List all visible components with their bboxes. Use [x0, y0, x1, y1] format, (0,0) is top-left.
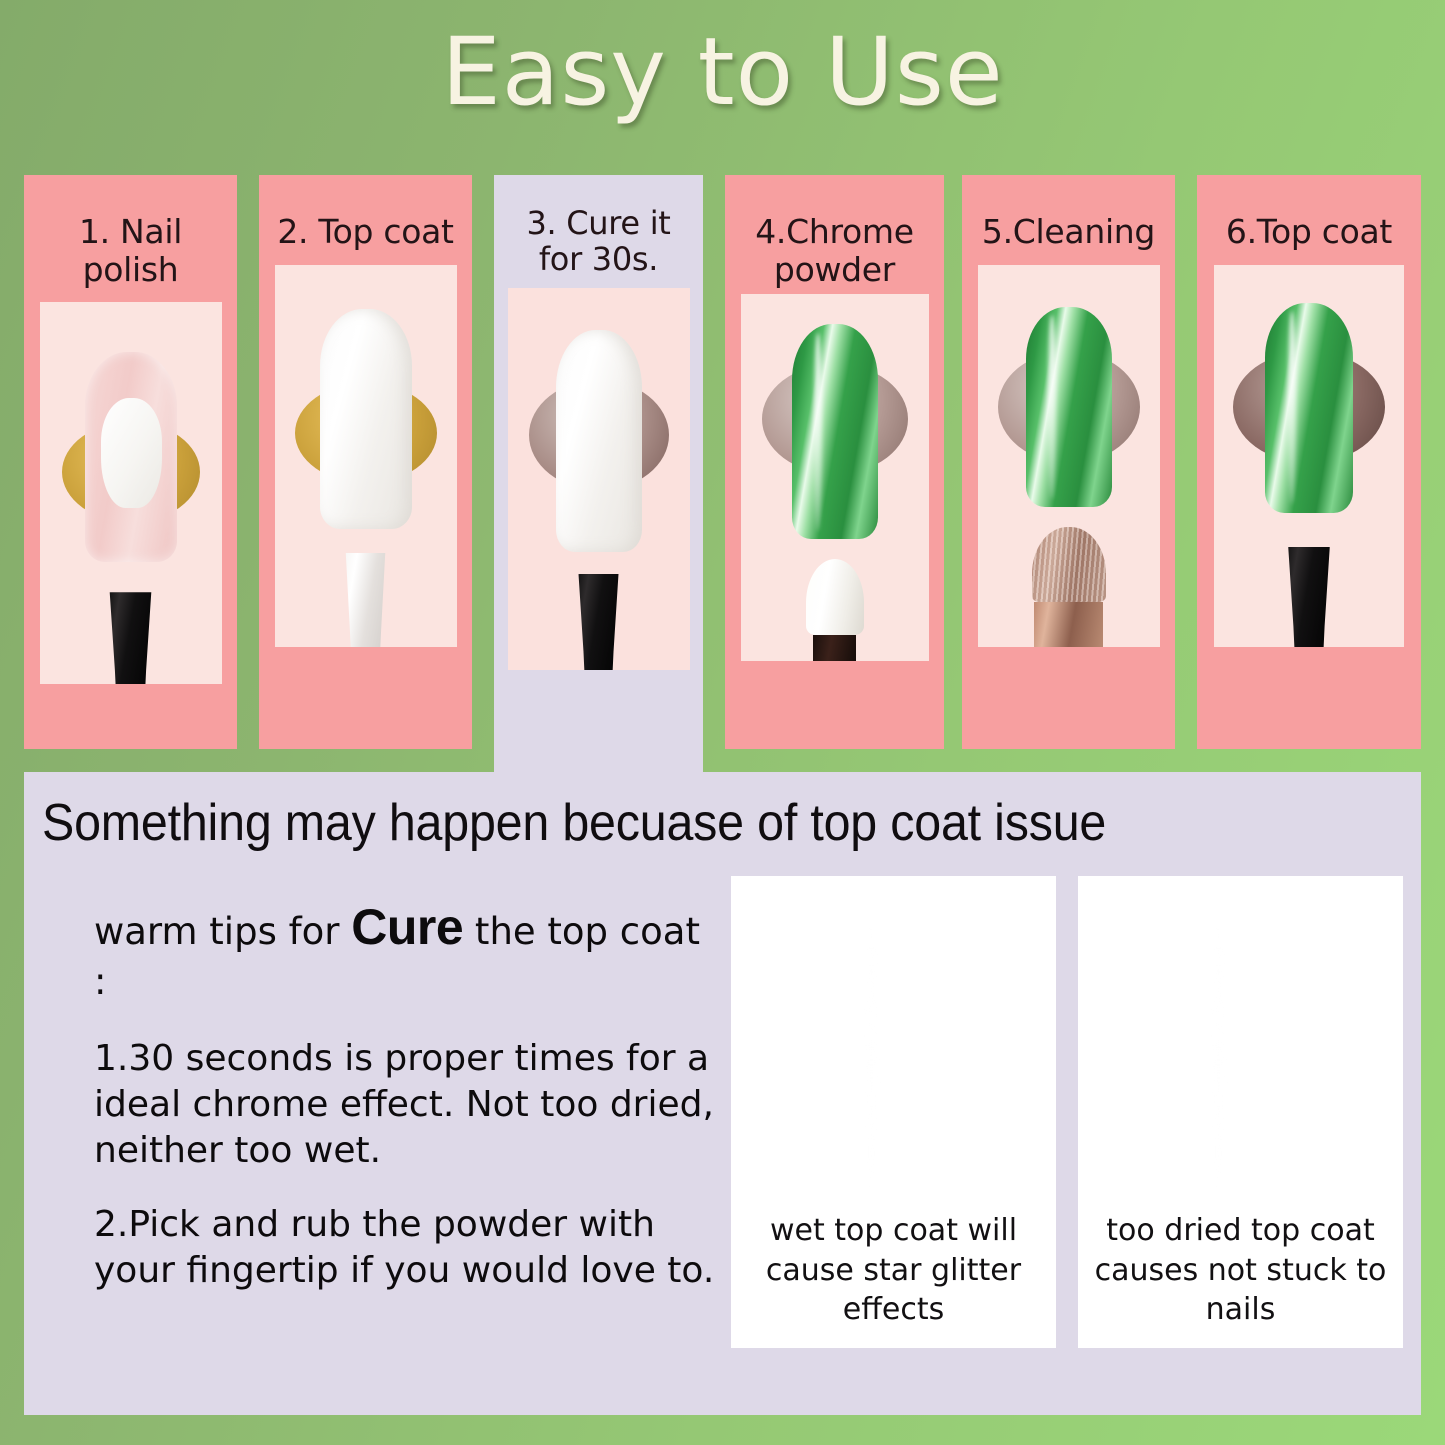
- tips-lead: warm tips for Cure the top coat :: [94, 896, 724, 1006]
- step-label-3-line1: 3. Cure it: [526, 204, 670, 242]
- nail-tip-5: [1026, 307, 1112, 507]
- tip-item-1: 1.30 seconds is proper times for a ideal…: [94, 1036, 724, 1174]
- bottom-headline: Something may happen becuase of top coat…: [42, 796, 1307, 851]
- black-brush-icon: [1283, 547, 1335, 647]
- step-label-6: 6.Top coat: [1197, 175, 1421, 251]
- step-photo-6: [1214, 265, 1404, 647]
- step-card-1: 1. Nail polish: [24, 175, 237, 749]
- step-card-4: 4.Chrome powder: [725, 175, 944, 749]
- black-brush-icon: [574, 574, 624, 670]
- step-photo-4: [741, 294, 929, 661]
- comparison-card-dried: too dried top coat causes not stuck to n…: [1078, 876, 1403, 1348]
- nail-tip-6: [1265, 303, 1353, 513]
- makeup-brush-icon: [1032, 527, 1106, 647]
- nail-tip-2: [320, 309, 412, 529]
- nail-tip-4: [792, 324, 878, 539]
- sponge-handle: [813, 635, 856, 662]
- step-card-3: 3. Cure it for 30s.: [494, 175, 703, 779]
- white-polish-blob: [101, 398, 162, 507]
- comparison-caption-wet: wet top coat will cause star glitter eff…: [731, 1211, 1056, 1330]
- tip-item-2: 2.Pick and rub the powder with your fing…: [94, 1202, 724, 1294]
- step-label-3-line2: for 30s.: [539, 240, 658, 278]
- brush-ferrule: [1034, 602, 1104, 646]
- comparison-nail-wrap-wet: [844, 908, 944, 1208]
- comparison-nail-wet: [844, 908, 944, 1208]
- step-photo-2: [275, 265, 457, 647]
- black-brush-icon: [105, 592, 157, 684]
- brush-bristles: [1032, 527, 1106, 603]
- step-label-5: 5.Cleaning: [962, 175, 1175, 251]
- step-label-3: 3. Cure it for 30s.: [494, 175, 703, 278]
- step-photo-1: [40, 302, 222, 684]
- sponge-tip: [806, 559, 864, 634]
- nail-tip-1: [85, 352, 177, 562]
- step-label-4-line2: powder: [774, 250, 895, 289]
- step-photo-3: [508, 288, 690, 670]
- step-label-1: 1. Nail polish: [24, 175, 237, 288]
- bottom-panel: Something may happen becuase of top coat…: [24, 772, 1421, 1415]
- warm-tips-block: warm tips for Cure the top coat : 1.30 s…: [94, 896, 724, 1322]
- comparison-nail-dried: [1191, 908, 1291, 1208]
- comparison-card-wet: wet top coat will cause star glitter eff…: [731, 876, 1056, 1348]
- step-card-6: 6.Top coat: [1197, 175, 1421, 749]
- step-photo-5: [978, 265, 1160, 647]
- step-card-2: 2. Top coat: [259, 175, 472, 749]
- sponge-applicator-icon: [806, 559, 864, 661]
- step-label-4-line1: 4.Chrome: [755, 212, 914, 251]
- steps-strip: 1. Nail polish 2. Top coat 3. Cure it: [24, 175, 1421, 749]
- infographic-page: Easy to Use 1. Nail polish 2. Top coat: [0, 0, 1445, 1445]
- step-label-4: 4.Chrome powder: [725, 175, 944, 288]
- comparison-row: wet top coat will cause star glitter eff…: [731, 876, 1403, 1348]
- tips-lead-before: warm tips for: [94, 910, 351, 953]
- tips-lead-cure: Cure: [351, 899, 463, 955]
- page-title: Easy to Use: [0, 26, 1445, 120]
- comparison-caption-dried: too dried top coat causes not stuck to n…: [1078, 1211, 1403, 1330]
- nail-tip-3: [556, 330, 642, 552]
- step-card-5: 5.Cleaning: [962, 175, 1175, 749]
- step-label-2: 2. Top coat: [259, 175, 472, 251]
- comparison-nail-wrap-dried: [1191, 908, 1291, 1208]
- white-brush-icon: [340, 553, 392, 647]
